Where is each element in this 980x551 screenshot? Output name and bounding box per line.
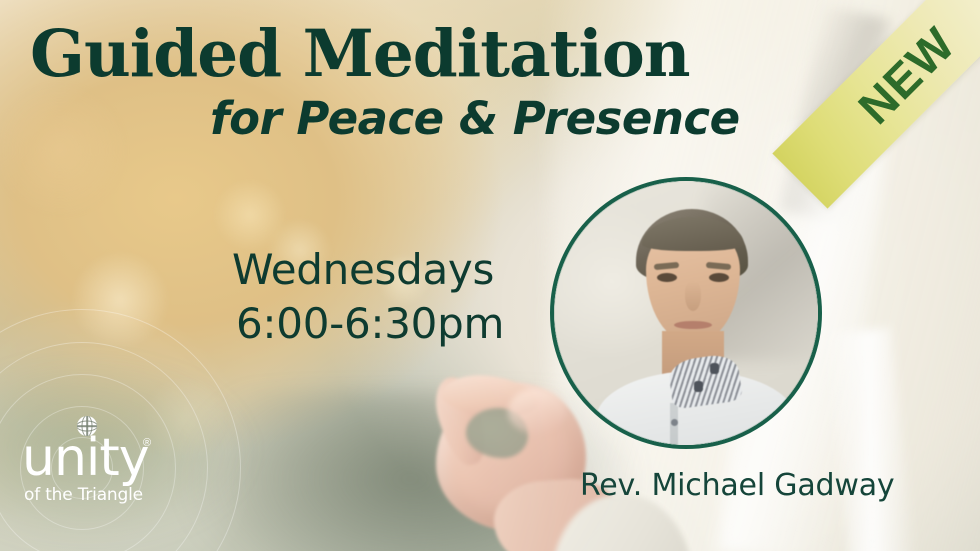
presenter-photo xyxy=(554,181,818,445)
unity-globe-icon xyxy=(77,416,97,436)
schedule-day: Wednesdays xyxy=(232,243,504,297)
presenter-name: Rev. Michael Gadway xyxy=(580,468,894,503)
schedule-time: 6:00-6:30pm xyxy=(236,297,504,351)
registered-trademark-icon: ® xyxy=(143,438,151,449)
promo-poster: NEW Guided Meditation for Peace & Presen… xyxy=(0,0,980,551)
presenter-avatar xyxy=(550,177,822,449)
unity-wordmark: unity xyxy=(22,428,149,488)
schedule-block: Wednesdays 6:00-6:30pm xyxy=(232,243,504,351)
page-title: Guided Meditation xyxy=(30,22,782,87)
unity-tagline: of the Triangle xyxy=(24,485,182,505)
unity-logo: unity ® of the Triangle xyxy=(22,432,182,505)
page-subtitle: for Peace & Presence xyxy=(210,95,790,142)
headline-block: Guided Meditation for Peace & Presence xyxy=(30,22,790,142)
